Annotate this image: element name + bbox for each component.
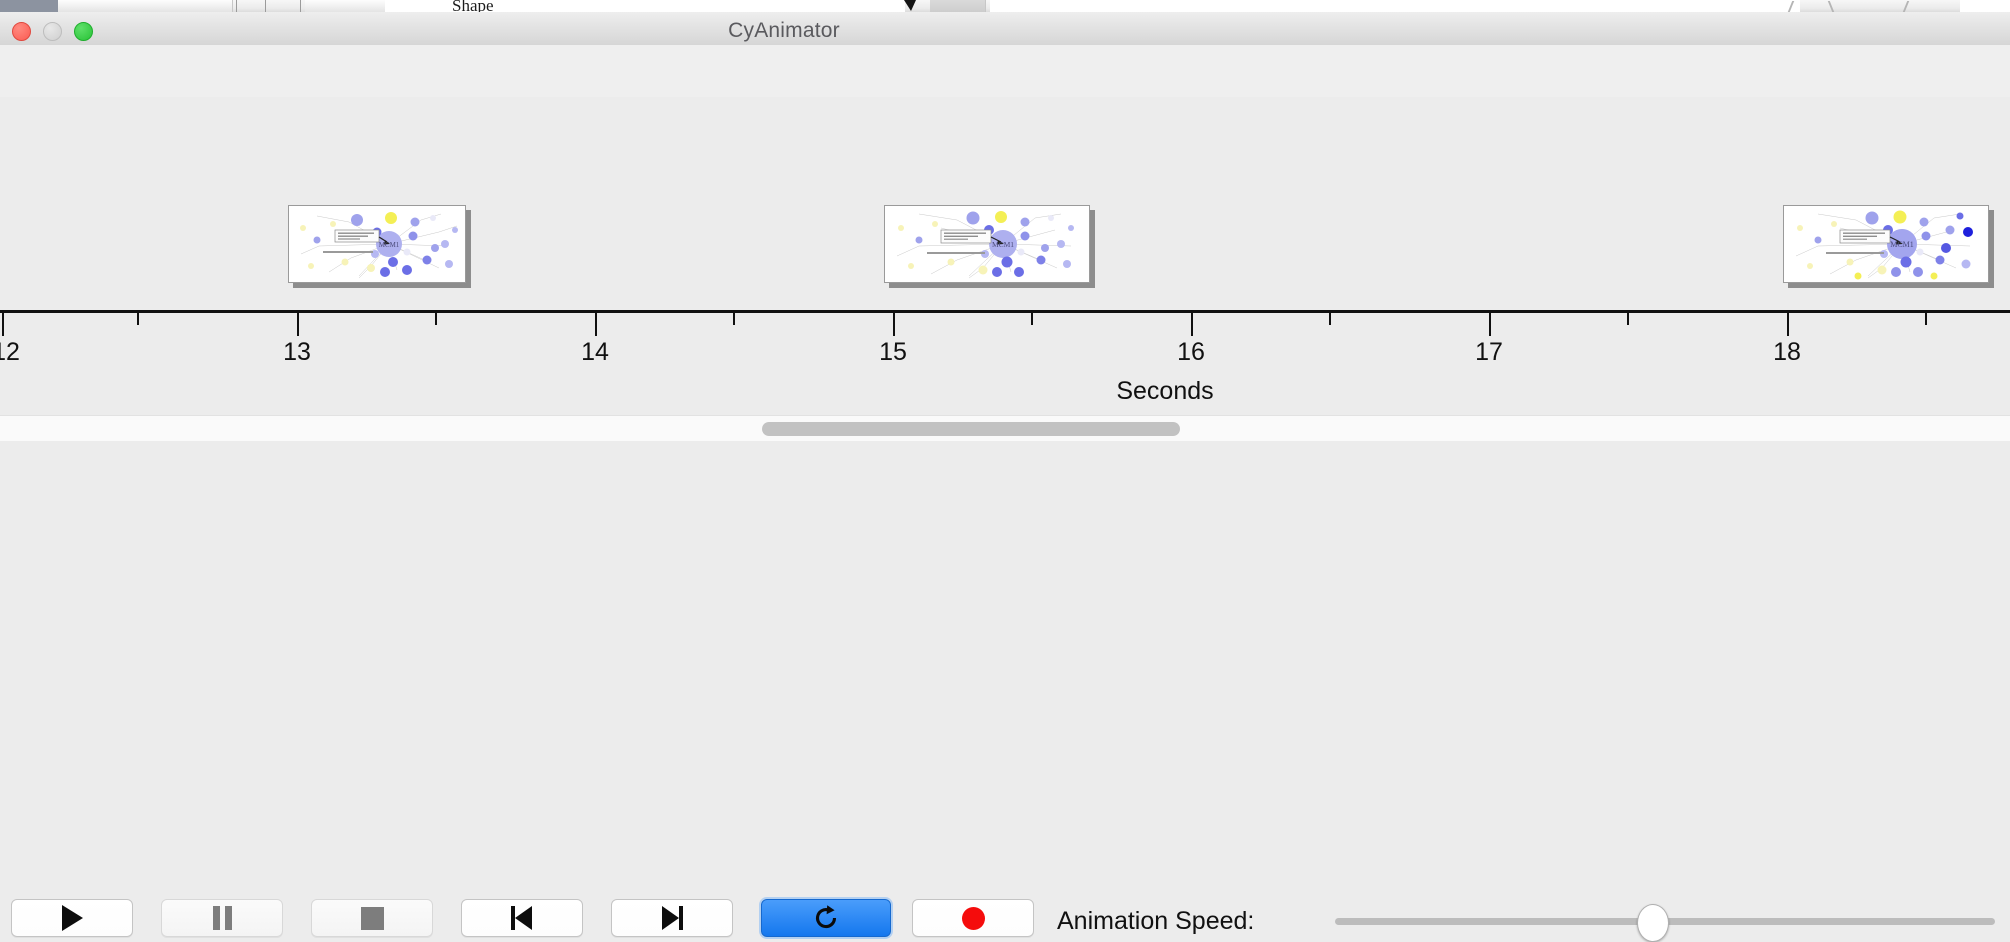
ruler-tick-major	[893, 313, 895, 336]
frame-thumbnail[interactable]: MCM1	[1783, 205, 1989, 283]
scrollbar-thumb[interactable]	[762, 422, 1180, 436]
ruler-tick-major	[1489, 313, 1491, 336]
network-thumbnail-graphic: MCM1	[289, 206, 465, 282]
slider-thumb[interactable]	[1637, 904, 1669, 942]
skip-forward-icon	[660, 906, 684, 930]
play-icon	[62, 905, 83, 931]
ruler-label: 16	[1177, 338, 1205, 367]
timeline-frames-area[interactable]: MCM1	[0, 97, 2010, 310]
skip-to-end-button[interactable]	[611, 899, 733, 937]
bg-cursor-wedge	[904, 0, 916, 11]
frame-thumbnail[interactable]: MCM1	[288, 205, 466, 283]
ruler-label: 14	[581, 338, 609, 367]
timeline-frame[interactable]: MCM1	[884, 205, 1090, 283]
bg-white-area-3	[1960, 0, 2010, 12]
ruler-tick-minor	[733, 313, 735, 325]
bg-segment-1	[58, 0, 181, 12]
bg-segment-4	[930, 0, 986, 12]
ruler-label: 12	[0, 338, 20, 367]
ruler-tick-minor	[137, 313, 139, 325]
cyanimator-window: Shape CyAnimator Clear	[0, 0, 2010, 510]
bg-white-area-2	[990, 0, 1800, 12]
frame-thumbnail[interactable]: MCM1	[884, 205, 1090, 283]
skip-back-icon	[510, 906, 534, 930]
ruler-label: 18	[1773, 338, 1801, 367]
title-bar[interactable]: CyAnimator	[0, 12, 2010, 46]
window-title: CyAnimator	[0, 19, 1568, 43]
ruler-tick-major	[1787, 313, 1789, 336]
ruler-tick-major	[297, 313, 299, 336]
ruler-tick-minor	[1627, 313, 1629, 325]
toolbar: Clear All Frames	[0, 45, 2010, 98]
ruler-label: 17	[1475, 338, 1503, 367]
frame-center-node-label: MCM1	[992, 240, 1014, 249]
bg-tick-3	[300, 0, 301, 12]
bg-tick-1	[236, 0, 237, 12]
network-thumbnail-graphic: MCM1	[885, 206, 1089, 282]
ruler-tick-minor	[435, 313, 437, 325]
pause-icon	[213, 906, 232, 930]
bg-segment-3	[305, 0, 386, 12]
background-window-strip: Shape	[0, 0, 2010, 12]
bg-tab-selected	[0, 0, 58, 12]
loop-button[interactable]	[761, 899, 891, 937]
timeline-horizontal-scrollbar[interactable]	[0, 415, 2010, 443]
network-thumbnail-graphic: MCM1	[1784, 206, 1988, 282]
stop-button[interactable]	[311, 899, 433, 937]
animation-speed-label: Animation Speed:	[1057, 907, 1254, 936]
ruler-tick-major	[2, 313, 4, 336]
play-button[interactable]	[11, 899, 133, 937]
timeline-frame[interactable]: MCM1	[288, 205, 466, 283]
bg-partial-label: Shape	[452, 0, 494, 12]
bg-segment-2	[180, 0, 233, 12]
ruler-tick-minor	[1031, 313, 1033, 325]
record-icon	[962, 907, 985, 930]
frame-center-node-label: MCM1	[379, 241, 400, 249]
stop-icon	[361, 907, 384, 930]
ruler-axis-line	[0, 310, 2010, 313]
pause-button[interactable]	[161, 899, 283, 937]
ruler-axis-title: Seconds	[0, 377, 2010, 406]
ruler-tick-major	[1191, 313, 1193, 336]
bg-slash-2	[1828, 1, 1846, 12]
animation-speed-slider[interactable]	[1335, 918, 1995, 925]
ruler-tick-major	[595, 313, 597, 336]
ruler-label: 15	[879, 338, 907, 367]
bg-tick-2	[265, 0, 266, 12]
timeline-frame[interactable]: MCM1	[1783, 205, 1989, 283]
record-button[interactable]	[912, 899, 1034, 937]
ruler-tick-minor	[1925, 313, 1927, 325]
ruler-label: 13	[283, 338, 311, 367]
ruler-tick-minor	[1329, 313, 1331, 325]
playback-control-bar: Animation Speed:	[0, 441, 2010, 510]
bg-slash-3	[1903, 1, 1921, 12]
skip-to-start-button[interactable]	[461, 899, 583, 937]
frame-center-node-label: MCM1	[1890, 240, 1914, 249]
bg-slash-1	[1788, 1, 1806, 12]
timeline-ruler[interactable]: 12 13 14 15 16 17 18 Seconds	[0, 310, 2010, 415]
loop-icon	[812, 904, 840, 932]
